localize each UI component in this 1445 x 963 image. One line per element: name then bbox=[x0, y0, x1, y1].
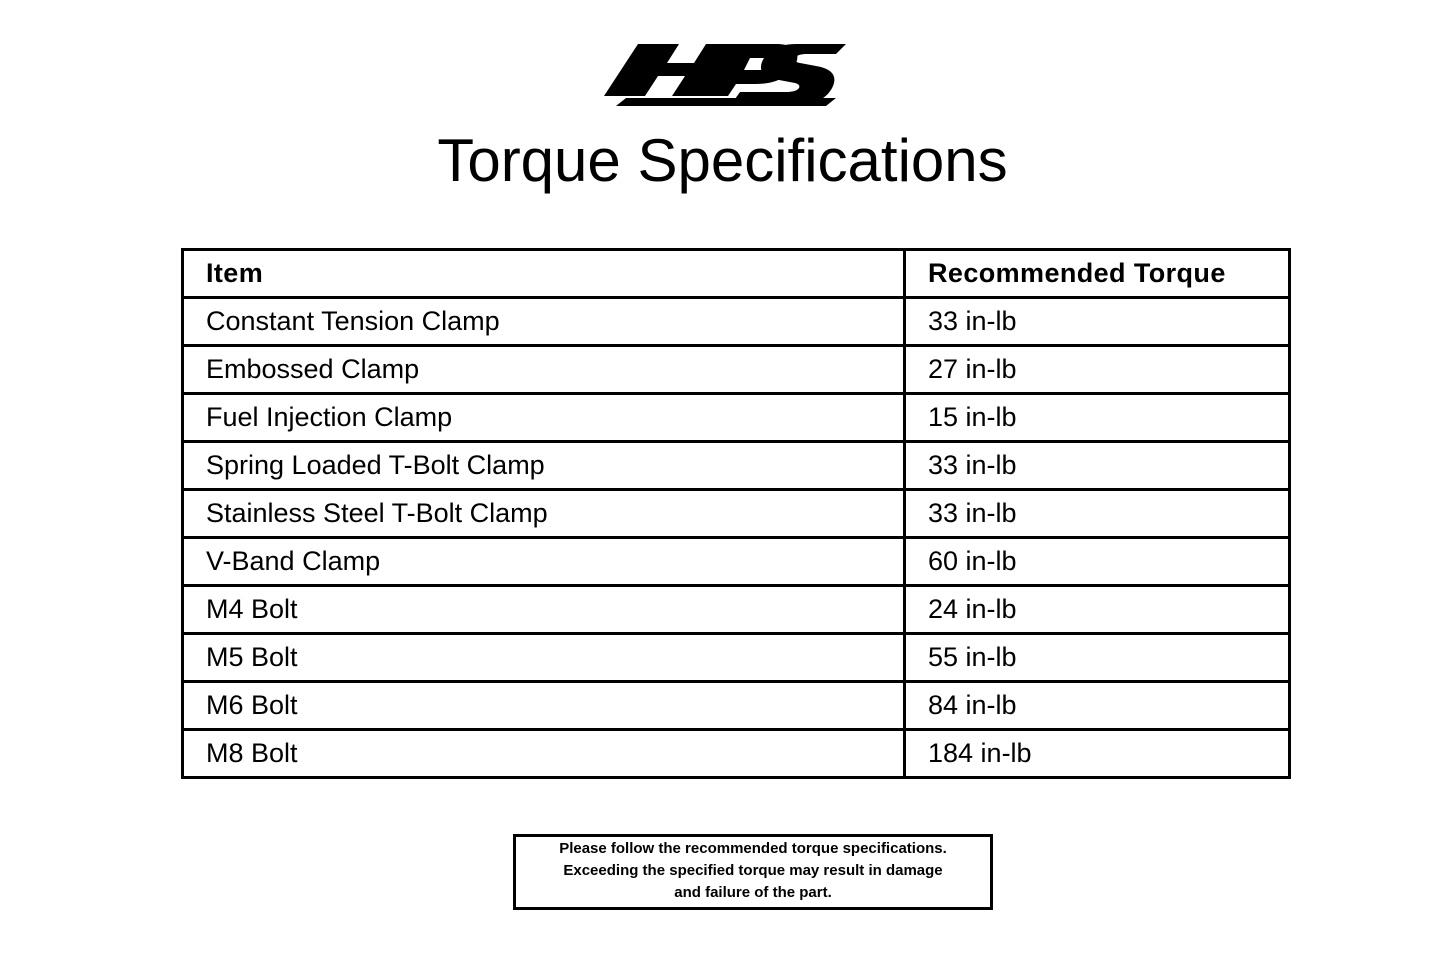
note-line: Exceeding the specified torque may resul… bbox=[563, 860, 942, 882]
warning-note-box: Please follow the recommended torque spe… bbox=[513, 834, 993, 910]
table-row: M5 Bolt 55 in-lb bbox=[183, 634, 1290, 682]
table-row: V-Band Clamp 60 in-lb bbox=[183, 538, 1290, 586]
cell-item: Constant Tension Clamp bbox=[183, 298, 905, 346]
table-row: M6 Bolt 84 in-lb bbox=[183, 682, 1290, 730]
cell-torque: 60 in-lb bbox=[905, 538, 1290, 586]
table-row: M4 Bolt 24 in-lb bbox=[183, 586, 1290, 634]
hps-logo bbox=[600, 36, 846, 106]
cell-torque: 27 in-lb bbox=[905, 346, 1290, 394]
note-line: and failure of the part. bbox=[674, 882, 832, 904]
note-line: Please follow the recommended torque spe… bbox=[559, 838, 947, 860]
page-title: Torque Specifications bbox=[0, 128, 1445, 194]
table-row: Spring Loaded T-Bolt Clamp 33 in-lb bbox=[183, 442, 1290, 490]
cell-torque: 15 in-lb bbox=[905, 394, 1290, 442]
column-header-recommended-torque: Recommended Torque bbox=[905, 250, 1290, 298]
table-header-row: Item Recommended Torque bbox=[183, 250, 1290, 298]
cell-item: Spring Loaded T-Bolt Clamp bbox=[183, 442, 905, 490]
cell-torque: 84 in-lb bbox=[905, 682, 1290, 730]
cell-item: M6 Bolt bbox=[183, 682, 905, 730]
torque-table-container: Item Recommended Torque Constant Tension… bbox=[181, 248, 1288, 779]
table-row: M8 Bolt 184 in-lb bbox=[183, 730, 1290, 778]
cell-item: M4 Bolt bbox=[183, 586, 905, 634]
cell-item: Fuel Injection Clamp bbox=[183, 394, 905, 442]
cell-torque: 184 in-lb bbox=[905, 730, 1290, 778]
cell-item: M5 Bolt bbox=[183, 634, 905, 682]
cell-item: Stainless Steel T-Bolt Clamp bbox=[183, 490, 905, 538]
column-header-item: Item bbox=[183, 250, 905, 298]
table-row: Constant Tension Clamp 33 in-lb bbox=[183, 298, 1290, 346]
cell-item: V-Band Clamp bbox=[183, 538, 905, 586]
cell-torque: 24 in-lb bbox=[905, 586, 1290, 634]
cell-torque: 55 in-lb bbox=[905, 634, 1290, 682]
table-row: Stainless Steel T-Bolt Clamp 33 in-lb bbox=[183, 490, 1290, 538]
cell-torque: 33 in-lb bbox=[905, 442, 1290, 490]
table-row: Fuel Injection Clamp 15 in-lb bbox=[183, 394, 1290, 442]
table-row: Embossed Clamp 27 in-lb bbox=[183, 346, 1290, 394]
cell-torque: 33 in-lb bbox=[905, 298, 1290, 346]
cell-item: Embossed Clamp bbox=[183, 346, 905, 394]
torque-specifications-table: Item Recommended Torque Constant Tension… bbox=[181, 248, 1291, 779]
cell-item: M8 Bolt bbox=[183, 730, 905, 778]
table-body: Constant Tension Clamp 33 in-lb Embossed… bbox=[183, 298, 1290, 778]
cell-torque: 33 in-lb bbox=[905, 490, 1290, 538]
brand-logo-area bbox=[0, 36, 1445, 110]
table-header: Item Recommended Torque bbox=[183, 250, 1290, 298]
